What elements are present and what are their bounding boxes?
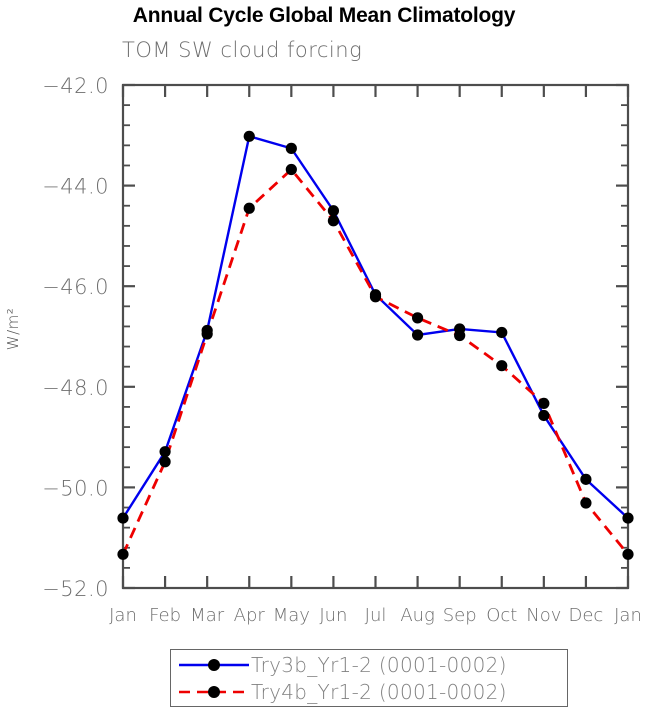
data-point-marker: [496, 360, 507, 371]
data-point-marker: [244, 203, 255, 214]
x-tick-label: Sep: [443, 605, 477, 626]
data-point-marker: [412, 329, 423, 340]
data-point-marker: [286, 164, 297, 175]
data-point-marker: [538, 410, 549, 421]
plot-area: −42.0−44.0−46.0−48.0−50.0−52.0JanFebMarA…: [0, 0, 648, 648]
x-tick-label: Nov: [526, 605, 561, 626]
data-point-marker: [622, 512, 633, 523]
data-point-marker: [580, 497, 591, 508]
x-tick-label: Aug: [400, 605, 435, 626]
y-tick-label: −42.0: [42, 74, 109, 98]
data-point-marker: [328, 215, 339, 226]
legend-item-series2[interactable]: Try4b_Yr1-2 (0001-0002): [177, 677, 507, 706]
x-tick-label: May: [273, 605, 310, 626]
x-tick-label: Jul: [365, 605, 387, 626]
data-point-marker: [286, 143, 297, 154]
x-tick-label: Dec: [568, 605, 603, 626]
data-point-marker: [117, 549, 128, 560]
y-tick-label: −52.0: [42, 577, 109, 601]
legend-label-series1: Try3b_Yr1-2 (0001-0002): [251, 653, 507, 677]
x-tick-label: Feb: [149, 605, 181, 626]
data-point-marker: [370, 291, 381, 302]
data-point-marker: [117, 512, 128, 523]
y-tick-label: −50.0: [42, 476, 109, 500]
y-tick-label: −44.0: [42, 175, 109, 199]
data-point-marker: [159, 456, 170, 467]
data-point-marker: [622, 549, 633, 560]
x-tick-label: Apr: [234, 605, 266, 626]
legend: Try3b_Yr1-2 (0001-0002) Try4b_Yr1-2 (000…: [170, 649, 568, 707]
legend-line-sample-series1: [177, 655, 251, 675]
legend-label-series2: Try4b_Yr1-2 (0001-0002): [251, 680, 507, 704]
series-line: [123, 136, 628, 518]
data-point-marker: [328, 205, 339, 216]
data-point-marker: [454, 330, 465, 341]
chart-page: Annual Cycle Global Mean Climatology TOM…: [0, 0, 648, 720]
data-point-marker: [202, 328, 213, 339]
x-tick-label: Mar: [190, 605, 225, 626]
x-tick-label: Jun: [319, 605, 347, 626]
legend-line-sample-series2: [177, 682, 251, 702]
x-tick-label: Jan: [614, 605, 642, 626]
data-point-marker: [496, 327, 507, 338]
x-tick-label: Oct: [486, 605, 517, 626]
data-point-marker: [412, 312, 423, 323]
y-tick-label: −48.0: [42, 376, 109, 400]
data-point-marker: [159, 446, 170, 457]
y-tick-label: −46.0: [42, 275, 109, 299]
series-line: [123, 170, 628, 555]
legend-item-series1[interactable]: Try3b_Yr1-2 (0001-0002): [177, 650, 507, 679]
data-point-marker: [244, 131, 255, 142]
data-point-marker: [580, 474, 591, 485]
data-point-marker: [538, 398, 549, 409]
x-tick-label: Jan: [109, 605, 137, 626]
